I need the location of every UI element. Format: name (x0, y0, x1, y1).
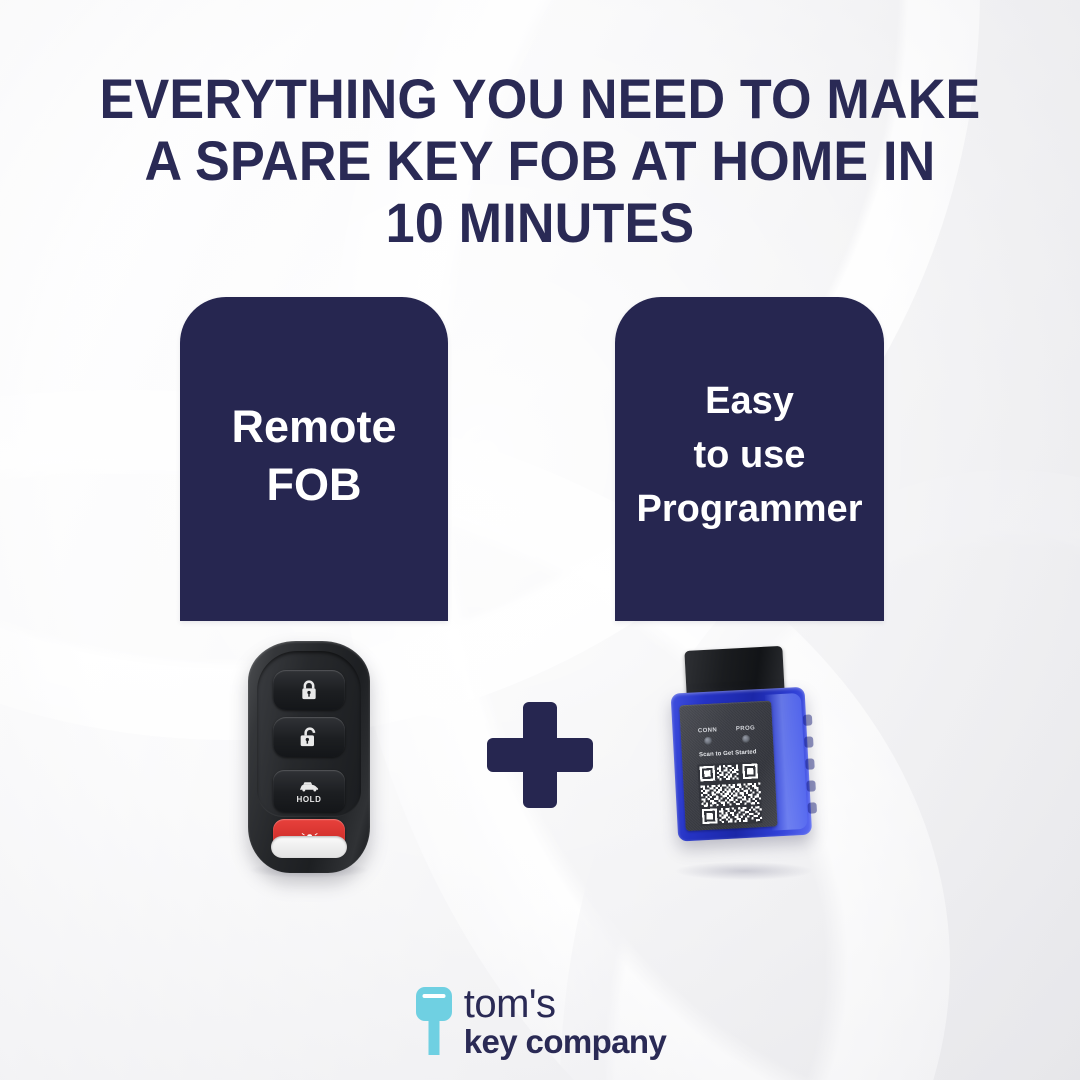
card-programmer-line-2: to use (637, 429, 863, 483)
key-icon (414, 985, 454, 1057)
brand-name-line-1: tom's (464, 984, 667, 1024)
unlock-button (273, 717, 345, 757)
qr-code (697, 761, 762, 826)
car-trunk-icon (298, 779, 320, 794)
led-prog-lamp (742, 735, 750, 743)
plus-icon (487, 702, 593, 808)
trunk-button: HOLD (273, 770, 345, 812)
led-conn-lamp (704, 737, 712, 745)
headline-line-2: A SPARE KEY FOB AT HOME IN (38, 130, 1042, 192)
programmer-face-label: CONN PROG Scan to Get Started (679, 701, 777, 832)
key-fob-keyring-slot (271, 836, 347, 858)
obd2-programmer-dongle: CONN PROG Scan to Get Started (662, 644, 825, 870)
plus-icon-bar-vertical (523, 702, 557, 808)
card-remote-fob-line-1: Remote (231, 398, 396, 456)
programmer-vent-2 (804, 736, 814, 747)
programmer-led-row: CONN PROG (680, 724, 773, 746)
card-remote-fob: Remote FOB (180, 297, 448, 621)
led-conn: CONN (698, 727, 718, 745)
car-key-fob: HOLD (248, 641, 370, 873)
brand-logo-wordmark: tom's key company (464, 984, 667, 1058)
trunk-button-label: HOLD (296, 795, 321, 804)
headline-line-3: 10 MINUTES (38, 192, 1042, 254)
card-programmer: Easy to use Programmer (615, 297, 884, 621)
programmer-vent-3 (805, 758, 815, 769)
led-prog-label: PROG (736, 725, 756, 732)
card-programmer-text: Easy to use Programmer (637, 375, 863, 543)
key-fob-button-panel: HOLD (257, 651, 361, 817)
brand-name-line-2: key company (464, 1025, 667, 1058)
lock-button (273, 670, 345, 710)
card-programmer-line-3: Programmer (637, 483, 863, 537)
scan-instruction-text: Scan to Get Started (682, 748, 774, 759)
card-programmer-line-1: Easy (637, 375, 863, 429)
programmer-vent-4 (806, 780, 816, 791)
lock-open-icon (299, 726, 319, 748)
page-title: EVERYTHING YOU NEED TO MAKE A SPARE KEY … (38, 68, 1042, 254)
headline-line-1: EVERYTHING YOU NEED TO MAKE (38, 68, 1042, 130)
card-remote-fob-line-2: FOB (231, 456, 396, 514)
lock-closed-icon (299, 679, 319, 701)
brand-logo: tom's key company (0, 984, 1080, 1058)
led-conn-label: CONN (698, 727, 718, 734)
programmer-vent-5 (807, 802, 817, 813)
card-remote-fob-text: Remote FOB (231, 398, 396, 519)
programmer-vent-1 (803, 714, 813, 725)
led-prog: PROG (736, 725, 756, 743)
poster-canvas: EVERYTHING YOU NEED TO MAKE A SPARE KEY … (0, 0, 1080, 1080)
